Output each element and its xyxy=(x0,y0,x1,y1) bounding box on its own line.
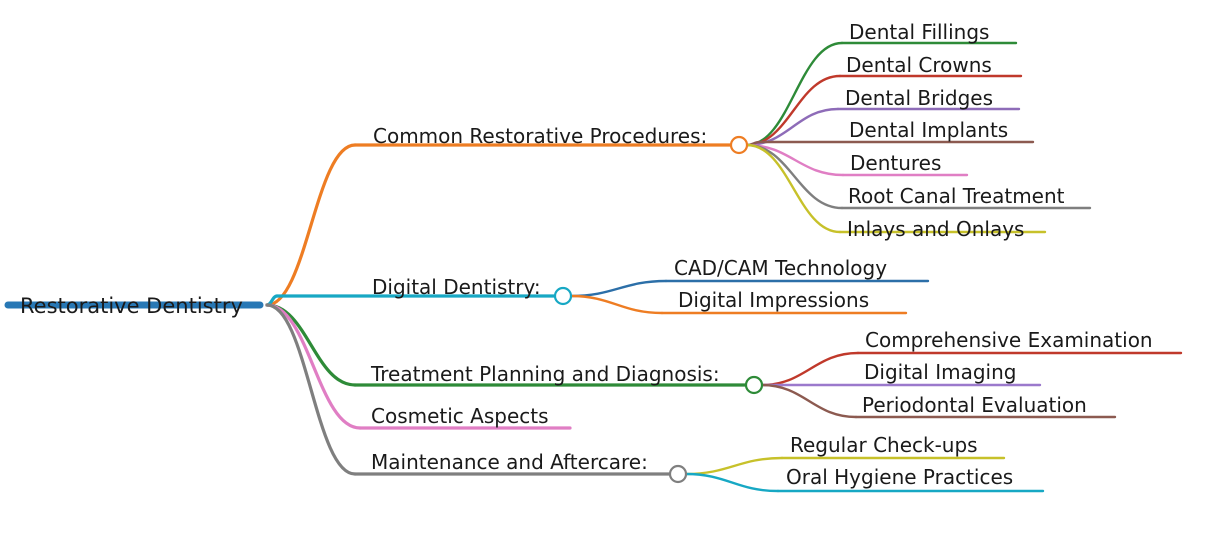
leaf-label-cad-cam-technology[interactable]: CAD/CAM Technology xyxy=(674,258,887,278)
leaf-label-inlays-and-onlays[interactable]: Inlays and Onlays xyxy=(847,219,1024,239)
edge-treatment-planning-and-diagnosis-to-periodontal-evaluation xyxy=(762,385,856,417)
edge-maintenance-and-aftercare-to-regular-checkups xyxy=(686,458,782,474)
node-treatment-planning-and-diagnosis[interactable] xyxy=(746,377,762,393)
node-common-restorative-procedures[interactable] xyxy=(731,137,747,153)
edge-root-to-cosmetic-aspects xyxy=(267,305,360,428)
edges-layer xyxy=(8,43,1181,491)
edge-common-restorative-procedures-to-dental-bridges xyxy=(747,109,838,145)
leaf-label-oral-hygiene-practices[interactable]: Oral Hygiene Practices xyxy=(786,467,1013,487)
leaf-label-dental-bridges[interactable]: Dental Bridges xyxy=(845,88,993,108)
node-maintenance-and-aftercare[interactable] xyxy=(670,466,686,482)
leaf-label-digital-imaging[interactable]: Digital Imaging xyxy=(864,362,1016,382)
leaf-label-dental-crowns[interactable]: Dental Crowns xyxy=(846,55,992,75)
edge-maintenance-and-aftercare-to-oral-hygiene-practices xyxy=(686,474,778,491)
leaf-label-periodontal-evaluation[interactable]: Periodontal Evaluation xyxy=(862,395,1087,415)
mind-map-canvas: Restorative DentistryCommon Restorative … xyxy=(0,0,1211,552)
leaf-label-dental-implants[interactable]: Dental Implants xyxy=(849,120,1008,140)
leaf-label-comprehensive-examination[interactable]: Comprehensive Examination xyxy=(865,330,1153,350)
edge-root-to-maintenance-and-aftercare xyxy=(267,305,355,474)
edge-treatment-planning-and-diagnosis-to-comprehensive-examination xyxy=(762,353,858,385)
branch-label-cosmetic-aspects[interactable]: Cosmetic Aspects xyxy=(371,406,549,426)
root-label[interactable]: Restorative Dentistry xyxy=(20,296,243,317)
branch-label-treatment-planning-and-diagnosis[interactable]: Treatment Planning and Diagnosis: xyxy=(371,364,720,384)
edge-digital-dentistry-to-digital-impressions xyxy=(571,296,662,313)
leaf-label-root-canal-treatment[interactable]: Root Canal Treatment xyxy=(848,186,1065,206)
node-digital-dentistry[interactable] xyxy=(555,288,571,304)
edge-common-restorative-procedures-to-root-canal-treatment xyxy=(747,145,842,208)
leaf-label-dentures[interactable]: Dentures xyxy=(850,153,941,173)
edge-root-to-common-restorative-procedures xyxy=(267,145,355,305)
edge-root-to-treatment-planning-and-diagnosis xyxy=(267,305,355,385)
branch-label-common-restorative-procedures[interactable]: Common Restorative Procedures: xyxy=(373,126,707,146)
edge-digital-dentistry-to-cad-cam-technology xyxy=(571,281,666,296)
edge-common-restorative-procedures-to-dental-fillings xyxy=(747,43,842,145)
leaf-label-digital-impressions[interactable]: Digital Impressions xyxy=(678,290,869,310)
leaf-label-regular-checkups[interactable]: Regular Check-ups xyxy=(790,435,978,455)
branch-label-digital-dentistry[interactable]: Digital Dentistry: xyxy=(372,277,541,297)
leaf-label-dental-fillings[interactable]: Dental Fillings xyxy=(849,22,989,42)
branch-label-maintenance-and-aftercare[interactable]: Maintenance and Aftercare: xyxy=(371,452,648,472)
